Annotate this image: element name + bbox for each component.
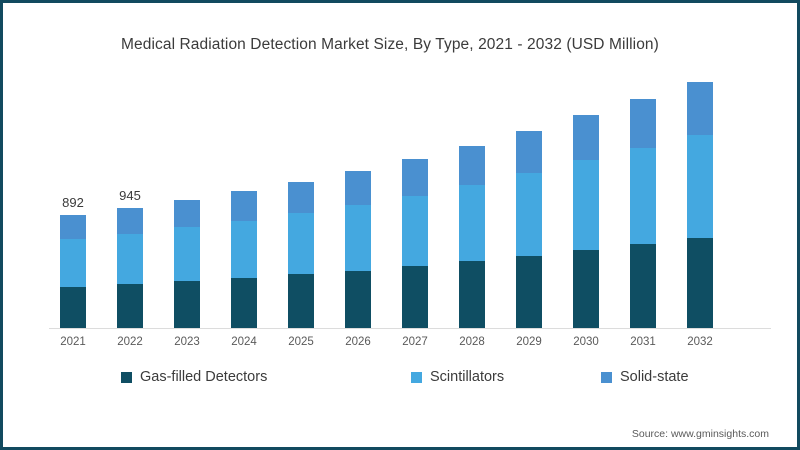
x-axis-tick-2030: 2030 bbox=[558, 336, 614, 348]
bar-segment-gas-filled-detectors bbox=[630, 244, 656, 329]
bar-segment-solid-state bbox=[516, 131, 542, 173]
x-axis-tick-2029: 2029 bbox=[501, 336, 557, 348]
bar-2030[interactable] bbox=[573, 115, 599, 329]
bar-segment-solid-state bbox=[573, 115, 599, 161]
x-axis-tick-2022: 2022 bbox=[102, 336, 158, 348]
bar-2024[interactable] bbox=[231, 191, 257, 329]
bar-segment-scintillators bbox=[402, 196, 428, 267]
bar-segment-gas-filled-detectors bbox=[174, 281, 200, 329]
bar-2026[interactable] bbox=[345, 171, 371, 329]
bar-segment-gas-filled-detectors bbox=[516, 256, 542, 329]
legend-label: Solid-state bbox=[620, 369, 689, 385]
legend-swatch-icon bbox=[411, 372, 422, 383]
bar-segment-solid-state bbox=[687, 82, 713, 135]
bar-segment-scintillators bbox=[573, 160, 599, 249]
bar-segment-gas-filled-detectors bbox=[117, 284, 143, 329]
x-axis-tick-2031: 2031 bbox=[615, 336, 671, 348]
chart-card: Medical Radiation Detection Market Size,… bbox=[0, 0, 800, 450]
bar-segment-scintillators bbox=[516, 173, 542, 255]
bar-segment-solid-state bbox=[60, 215, 86, 239]
legend-label: Gas-filled Detectors bbox=[140, 369, 267, 385]
x-axis-tick-2024: 2024 bbox=[216, 336, 272, 348]
legend-item-gas-filled-detectors[interactable]: Gas-filled Detectors bbox=[121, 369, 267, 385]
legend-item-solid-state[interactable]: Solid-state bbox=[601, 369, 689, 385]
legend-swatch-icon bbox=[601, 372, 612, 383]
bar-segment-gas-filled-detectors bbox=[402, 266, 428, 329]
chart-legend: Gas-filled DetectorsScintillatorsSolid-s… bbox=[121, 369, 721, 389]
bar-segment-solid-state bbox=[231, 191, 257, 220]
bar-segment-gas-filled-detectors bbox=[345, 271, 371, 329]
bar-segment-scintillators bbox=[117, 234, 143, 284]
source-note: Source: www.gminsights.com bbox=[632, 428, 769, 440]
bar-value-label: 892 bbox=[62, 195, 84, 210]
bar-segment-solid-state bbox=[345, 171, 371, 205]
bar-2032[interactable] bbox=[687, 82, 713, 329]
bar-segment-gas-filled-detectors bbox=[231, 278, 257, 329]
bar-2028[interactable] bbox=[459, 146, 485, 329]
bar-segment-solid-state bbox=[459, 146, 485, 185]
x-axis-tick-2032: 2032 bbox=[672, 336, 728, 348]
x-axis-tick-2021: 2021 bbox=[45, 336, 101, 348]
bar-2031[interactable] bbox=[630, 99, 656, 329]
x-axis-tick-2028: 2028 bbox=[444, 336, 500, 348]
plot-area: 892945 bbox=[49, 73, 771, 329]
bar-segment-scintillators bbox=[288, 213, 314, 274]
x-axis-tick-2025: 2025 bbox=[273, 336, 329, 348]
bar-segment-gas-filled-detectors bbox=[687, 238, 713, 329]
x-axis-tick-2026: 2026 bbox=[330, 336, 386, 348]
page-title: Medical Radiation Detection Market Size,… bbox=[121, 36, 659, 54]
legend-label: Scintillators bbox=[430, 369, 504, 385]
x-axis-tick-2027: 2027 bbox=[387, 336, 443, 348]
bar-segment-scintillators bbox=[459, 185, 485, 261]
bar-segment-scintillators bbox=[60, 239, 86, 287]
bar-2021[interactable]: 892 bbox=[60, 215, 86, 329]
bar-2025[interactable] bbox=[288, 182, 314, 329]
x-axis-line bbox=[49, 328, 771, 329]
bar-segment-solid-state bbox=[174, 200, 200, 228]
legend-swatch-icon bbox=[121, 372, 132, 383]
bar-segment-gas-filled-detectors bbox=[573, 250, 599, 329]
bar-segment-scintillators bbox=[630, 148, 656, 244]
bar-segment-scintillators bbox=[174, 227, 200, 281]
bar-segment-scintillators bbox=[231, 221, 257, 278]
bar-segment-solid-state bbox=[288, 182, 314, 213]
bar-segment-solid-state bbox=[630, 99, 656, 148]
x-axis-tick-2023: 2023 bbox=[159, 336, 215, 348]
bar-2023[interactable] bbox=[174, 200, 200, 329]
bar-value-label: 945 bbox=[119, 188, 141, 203]
legend-item-scintillators[interactable]: Scintillators bbox=[411, 369, 504, 385]
bar-2029[interactable] bbox=[516, 131, 542, 329]
bar-segment-scintillators bbox=[345, 205, 371, 271]
bar-2027[interactable] bbox=[402, 159, 428, 329]
bar-segment-gas-filled-detectors bbox=[459, 261, 485, 329]
bar-segment-solid-state bbox=[117, 208, 143, 234]
bar-segment-gas-filled-detectors bbox=[60, 287, 86, 329]
bar-2022[interactable]: 945 bbox=[117, 208, 143, 329]
bar-segment-solid-state bbox=[402, 159, 428, 195]
bar-segment-gas-filled-detectors bbox=[288, 274, 314, 329]
bar-segment-scintillators bbox=[687, 135, 713, 238]
